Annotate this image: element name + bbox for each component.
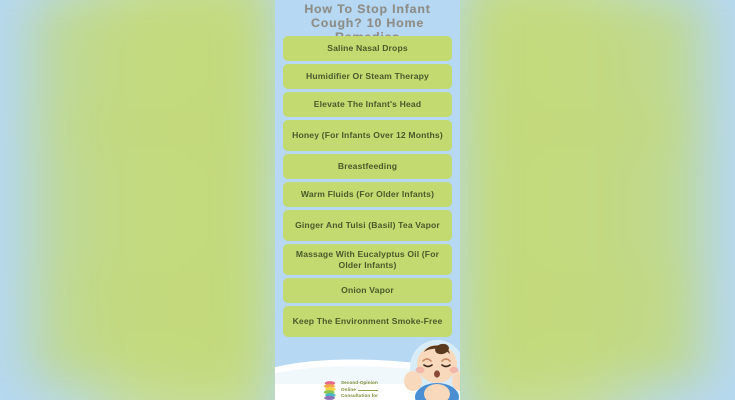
background-blur-right [465,0,735,400]
remedy-item-5[interactable]: Breastfeeding [283,154,452,179]
brand-logo[interactable]: Second-Opinion Online Consultation for [323,380,378,400]
remedy-item-4[interactable]: Honey (For Infants Over 12 Months) [283,120,452,151]
stacked-books-logo-icon [323,380,338,400]
infographic-poster: How To Stop Infant Cough? 10 Home Remedi… [275,0,460,400]
logo-rule [358,390,378,391]
remedy-item-10[interactable]: Keep The Environment Smoke-Free [283,306,452,337]
remedy-item-3[interactable]: Elevate The Infant's Head [283,92,452,117]
logo-line-3: Consultation for [341,393,378,399]
remedy-item-2[interactable]: Humidifier Or Steam Therapy [283,64,452,89]
remedy-item-8[interactable]: Massage With Eucalyptus Oil (For Older I… [283,244,452,275]
remedy-item-7[interactable]: Ginger And Tulsi (Basil) Tea Vapor [283,210,452,241]
remedy-item-9[interactable]: Onion Vapor [283,278,452,303]
remedy-list: Saline Nasal Drops Humidifier Or Steam T… [283,36,452,337]
remedy-item-6[interactable]: Warm Fluids (For Older Infants) [283,182,452,207]
remedy-item-1[interactable]: Saline Nasal Drops [283,36,452,61]
poster-title-line-1: How To Stop Infant [277,2,458,16]
background-blur-left [0,0,270,400]
coughing-baby-icon [404,334,460,400]
brand-logo-text: Second-Opinion Online Consultation for [341,380,378,399]
